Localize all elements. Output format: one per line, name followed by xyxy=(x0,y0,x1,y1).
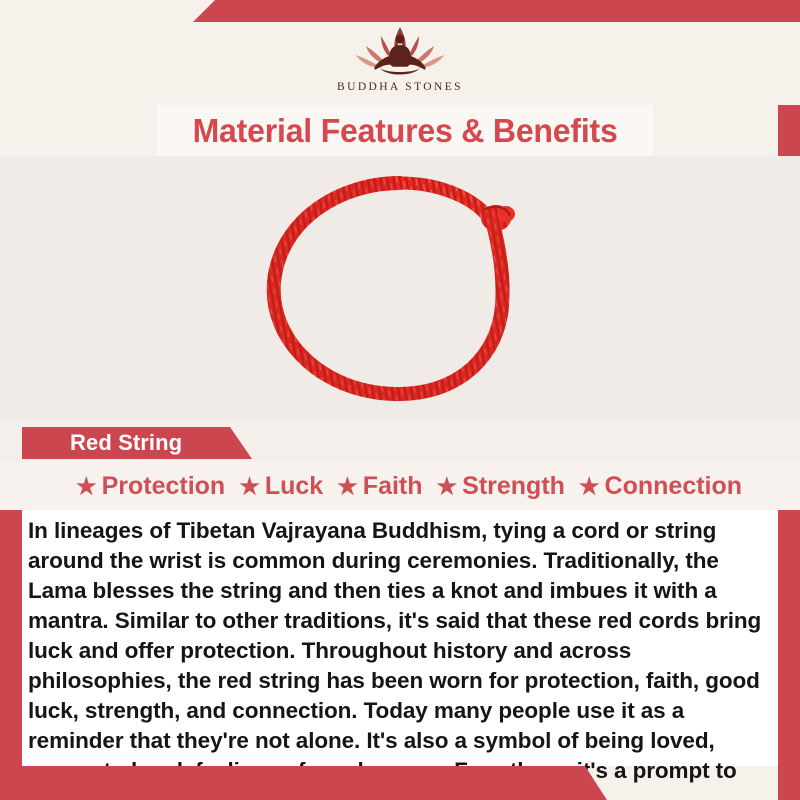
benefit-label: Protection xyxy=(102,472,226,501)
red-string-bracelet-image xyxy=(244,174,556,409)
benefit-item-connection: ★ Connection xyxy=(579,472,742,501)
page-title: Material Features & Benefits xyxy=(192,112,617,150)
benefit-label: Connection xyxy=(605,472,743,501)
title-panel: Material Features & Benefits xyxy=(157,105,653,156)
infographic-page: BUDDHA STONES Material Features & Benefi… xyxy=(0,0,800,800)
star-icon: ★ xyxy=(579,475,600,498)
star-icon: ★ xyxy=(437,475,458,498)
product-label-zone: Red String xyxy=(0,420,800,462)
product-image-area xyxy=(0,156,800,420)
lotus-meditation-icon xyxy=(336,22,464,84)
benefit-label: Strength xyxy=(462,472,565,501)
benefit-item-strength: ★ Strength xyxy=(437,472,565,501)
bottom-red-band xyxy=(0,766,640,800)
star-icon: ★ xyxy=(337,475,358,498)
product-label-text: Red String xyxy=(70,430,182,456)
benefits-row: ★ Protection ★ Luck ★ Faith ★ Strength ★… xyxy=(0,462,800,510)
product-label-ribbon: Red String xyxy=(22,427,252,459)
benefit-item-faith: ★ Faith xyxy=(337,472,422,501)
benefit-item-luck: ★ Luck xyxy=(239,472,323,501)
star-icon: ★ xyxy=(76,475,97,498)
benefit-item-protection: ★ Protection xyxy=(76,472,225,501)
top-red-band xyxy=(0,0,800,22)
star-icon: ★ xyxy=(239,475,260,498)
description-panel: In lineages of Tibetan Vajrayana Buddhis… xyxy=(22,510,778,766)
brand-header: BUDDHA STONES xyxy=(0,22,800,105)
brand-name: BUDDHA STONES xyxy=(337,81,463,93)
benefit-label: Luck xyxy=(265,472,323,501)
benefit-label: Faith xyxy=(363,472,423,501)
description-text: In lineages of Tibetan Vajrayana Buddhis… xyxy=(28,516,764,800)
